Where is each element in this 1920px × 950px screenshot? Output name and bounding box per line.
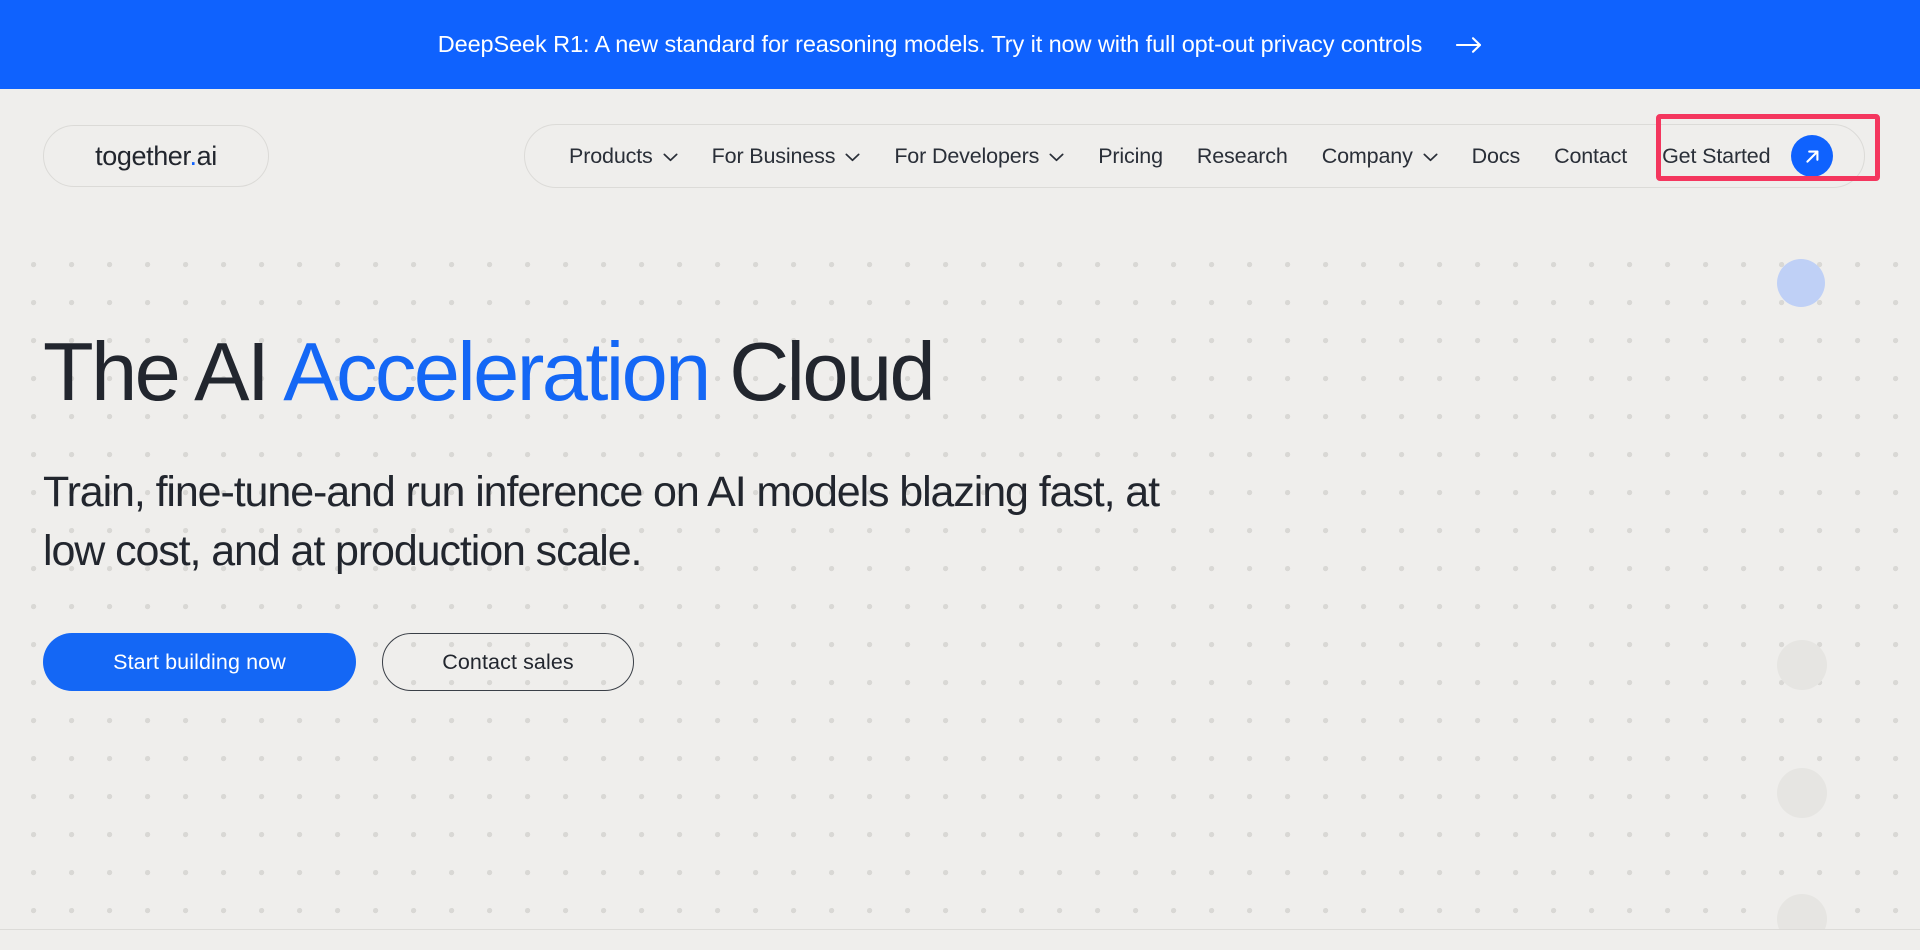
- page-title: The AI Acceleration Cloud: [43, 330, 1343, 415]
- hero-title-accent: Acceleration: [283, 325, 709, 418]
- nav-item-label: Docs: [1472, 144, 1520, 169]
- hero-subtitle: Train, fine-tune-and run inference on AI…: [43, 463, 1223, 582]
- get-started-label: Get Started: [1662, 144, 1770, 169]
- hero-action-buttons: Start building now Contact sales: [43, 633, 1343, 691]
- hero-section: The AI Acceleration Cloud Train, fine-tu…: [43, 330, 1343, 691]
- logo-dot: .: [190, 141, 197, 171]
- nav-item-label: Products: [569, 144, 653, 169]
- chevron-down-icon: [1423, 150, 1438, 162]
- nav-item-label: Contact: [1554, 144, 1627, 169]
- nav-item-label: For Business: [712, 144, 836, 169]
- announcement-banner[interactable]: DeepSeek R1: A new standard for reasonin…: [0, 0, 1920, 89]
- chevron-down-icon: [663, 150, 678, 162]
- contact-sales-button[interactable]: Contact sales: [382, 633, 634, 691]
- arrow-right-icon: [1456, 36, 1482, 54]
- decorative-circle-gray-2: [1777, 768, 1827, 818]
- nav-item-label: Company: [1322, 144, 1413, 169]
- announcement-banner-text: DeepSeek R1: A new standard for reasonin…: [438, 31, 1423, 58]
- nav-item-for-business[interactable]: For Business: [695, 125, 878, 187]
- hero-title-part2: Cloud: [709, 325, 933, 418]
- nav-item-label: Research: [1197, 144, 1288, 169]
- nav-item-products[interactable]: Products: [552, 125, 695, 187]
- bottom-strip: [0, 930, 1920, 950]
- nav-item-company[interactable]: Company: [1305, 125, 1455, 187]
- chevron-down-icon: [1049, 150, 1064, 162]
- decorative-circle-gray-1: [1777, 640, 1827, 690]
- nav-item-contact[interactable]: Contact: [1537, 125, 1644, 187]
- logo-suffix: ai: [197, 141, 217, 171]
- bottom-divider: [0, 929, 1920, 930]
- nav-item-label: For Developers: [894, 144, 1039, 169]
- site-header: together.ai Products For Business: [0, 89, 1920, 228]
- nav-item-docs[interactable]: Docs: [1455, 125, 1537, 187]
- start-building-now-button[interactable]: Start building now: [43, 633, 356, 691]
- main-navigation: Products For Business For Developers: [524, 124, 1865, 188]
- page-root: DeepSeek R1: A new standard for reasonin…: [0, 0, 1920, 950]
- arrow-up-right-icon: [1791, 135, 1833, 177]
- nav-item-for-developers[interactable]: For Developers: [877, 125, 1081, 187]
- nav-item-label: Pricing: [1098, 144, 1163, 169]
- logo-text: together.ai: [95, 141, 217, 172]
- get-started-button[interactable]: Get Started: [1644, 125, 1841, 187]
- logo-together-ai[interactable]: together.ai: [43, 125, 269, 187]
- chevron-down-icon: [845, 150, 860, 162]
- nav-item-pricing[interactable]: Pricing: [1081, 125, 1180, 187]
- decorative-circle-blue: [1777, 259, 1825, 307]
- logo-name: together: [95, 141, 189, 171]
- hero-title-part1: The AI: [43, 325, 283, 418]
- nav-item-research[interactable]: Research: [1180, 125, 1305, 187]
